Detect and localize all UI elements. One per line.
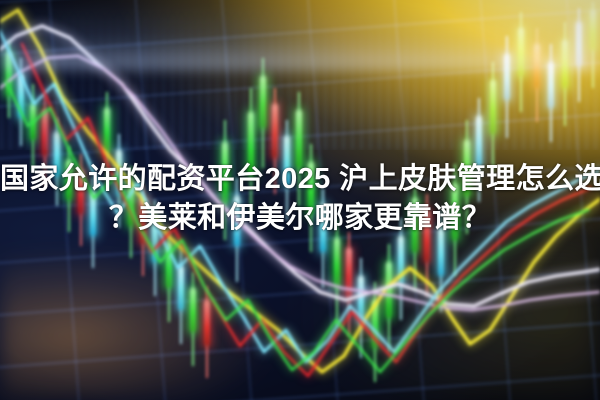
- candle-wick: [206, 286, 208, 378]
- headline-overlay: 国家允许的配资平台2025 沪上皮肤管理怎么选 ？美莱和伊美尔哪家更靠谱？: [0, 160, 600, 238]
- candle-body: [260, 76, 266, 128]
- candle-body: [476, 116, 482, 166]
- candle-body: [386, 262, 392, 318]
- candle-wick: [348, 232, 350, 336]
- candle-body: [518, 28, 524, 76]
- candle-wick: [578, 8, 580, 102]
- screenshot-canvas: 国家允许的配资平台2025 沪上皮肤管理怎么选 ？美莱和伊美尔哪家更靠谱？: [0, 0, 600, 400]
- candle-body: [576, 22, 582, 66]
- candle-body: [178, 266, 184, 310]
- candle-body: [272, 104, 278, 158]
- candle-wick: [492, 62, 494, 172]
- candle-wick: [8, 40, 10, 118]
- candle-body: [334, 238, 340, 288]
- candle-wick: [180, 250, 182, 344]
- candle-body: [372, 300, 378, 348]
- candle-wick: [536, 28, 538, 122]
- candle-wick: [592, 2, 594, 88]
- candle-body: [562, 40, 568, 88]
- candle-body: [166, 242, 172, 288]
- bottom-haze-glow: [0, 0, 600, 70]
- candle-wick: [550, 44, 552, 142]
- candle-body: [398, 236, 404, 284]
- candle-wick: [506, 36, 508, 138]
- candle-body: [190, 288, 196, 332]
- candle-wick: [374, 282, 376, 382]
- headline-line-1: 国家允许的配资平台2025 沪上皮肤管理怎么选: [0, 160, 600, 199]
- headline-line-2: ？美莱和伊美尔哪家更靠谱？: [0, 199, 600, 238]
- candle-body: [504, 54, 510, 100]
- volume-bars: [0, 0, 600, 150]
- candle-body: [590, 10, 596, 50]
- candle-body: [358, 276, 364, 324]
- candle-wick: [192, 272, 194, 366]
- candle-wick: [168, 226, 170, 322]
- candle-body: [6, 52, 12, 96]
- candle-body: [346, 248, 352, 300]
- candle-wick: [20, 58, 22, 146]
- candle-body: [104, 108, 110, 152]
- candle-body: [204, 300, 210, 346]
- candle-wick: [564, 22, 566, 126]
- candle-body: [30, 104, 36, 140]
- candle-body: [490, 80, 496, 134]
- candle-wick: [388, 244, 390, 352]
- candle-body: [18, 74, 24, 118]
- candle-body: [548, 62, 554, 108]
- candle-wick: [520, 12, 522, 112]
- candle-wick: [262, 58, 264, 168]
- candle-body: [42, 110, 48, 156]
- candle-wick: [32, 84, 34, 172]
- candle-body: [534, 44, 540, 88]
- candle-wick: [360, 258, 362, 358]
